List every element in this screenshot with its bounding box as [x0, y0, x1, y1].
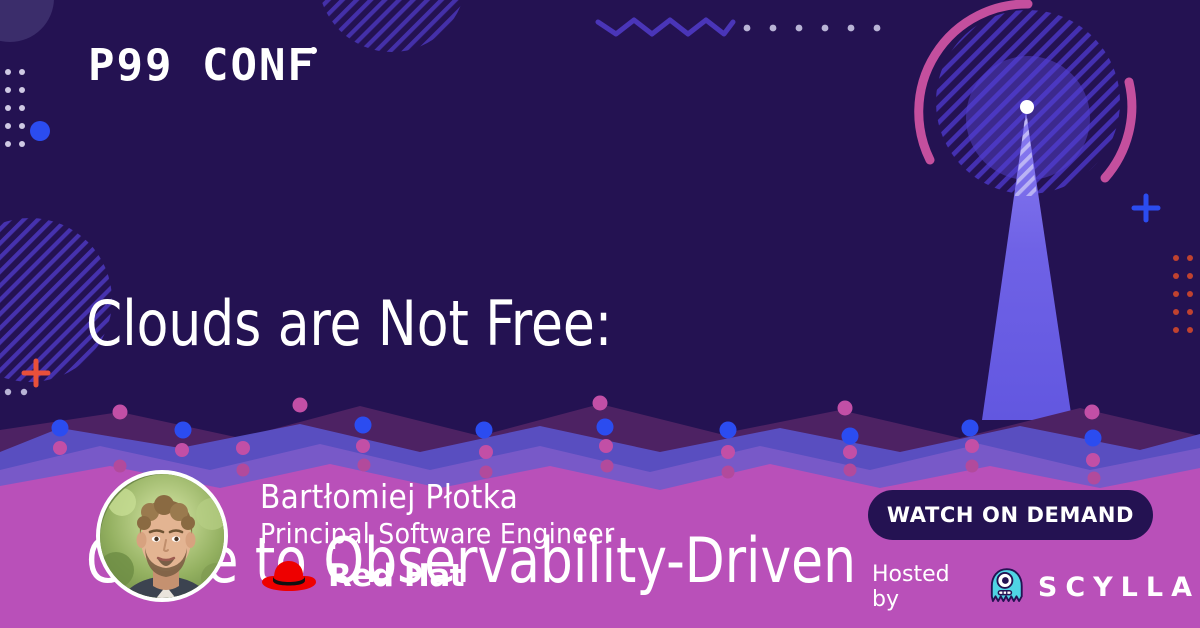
decor-tower-apex-dot — [1020, 100, 1034, 114]
conference-promo-card: P99 CONF Clouds are Not Free: Guide to O… — [0, 0, 1200, 628]
speaker-headshot — [100, 474, 228, 602]
avatar — [96, 470, 228, 602]
speaker-role: Principal Software Engineer — [260, 516, 615, 552]
scylla-octopus-icon — [989, 566, 1025, 608]
redhat-fedora-icon — [260, 556, 318, 596]
redhat-wordmark: Red Hat — [328, 561, 464, 592]
scylla-wordmark: SCYLLA — [1038, 574, 1200, 601]
watch-on-demand-button[interactable]: WATCH ON DEMAND — [868, 490, 1153, 540]
p99conf-logo-text: P99 CONF — [88, 40, 316, 91]
hosted-by-label: Hosted by — [872, 562, 976, 612]
hosted-by: Hosted by SCYLLA — [872, 562, 1200, 612]
redhat-logo: Red Hat — [260, 556, 464, 596]
speaker-name: Bartłomiej Płotka — [260, 478, 615, 516]
watch-on-demand-label: WATCH ON DEMAND — [887, 503, 1134, 527]
title-line-1: Clouds are Not Free: — [86, 284, 923, 363]
p99conf-logo: P99 CONF — [88, 44, 317, 88]
speaker-info: Bartłomiej Płotka Principal Software Eng… — [260, 478, 615, 552]
decor-blue-dot — [30, 121, 50, 141]
